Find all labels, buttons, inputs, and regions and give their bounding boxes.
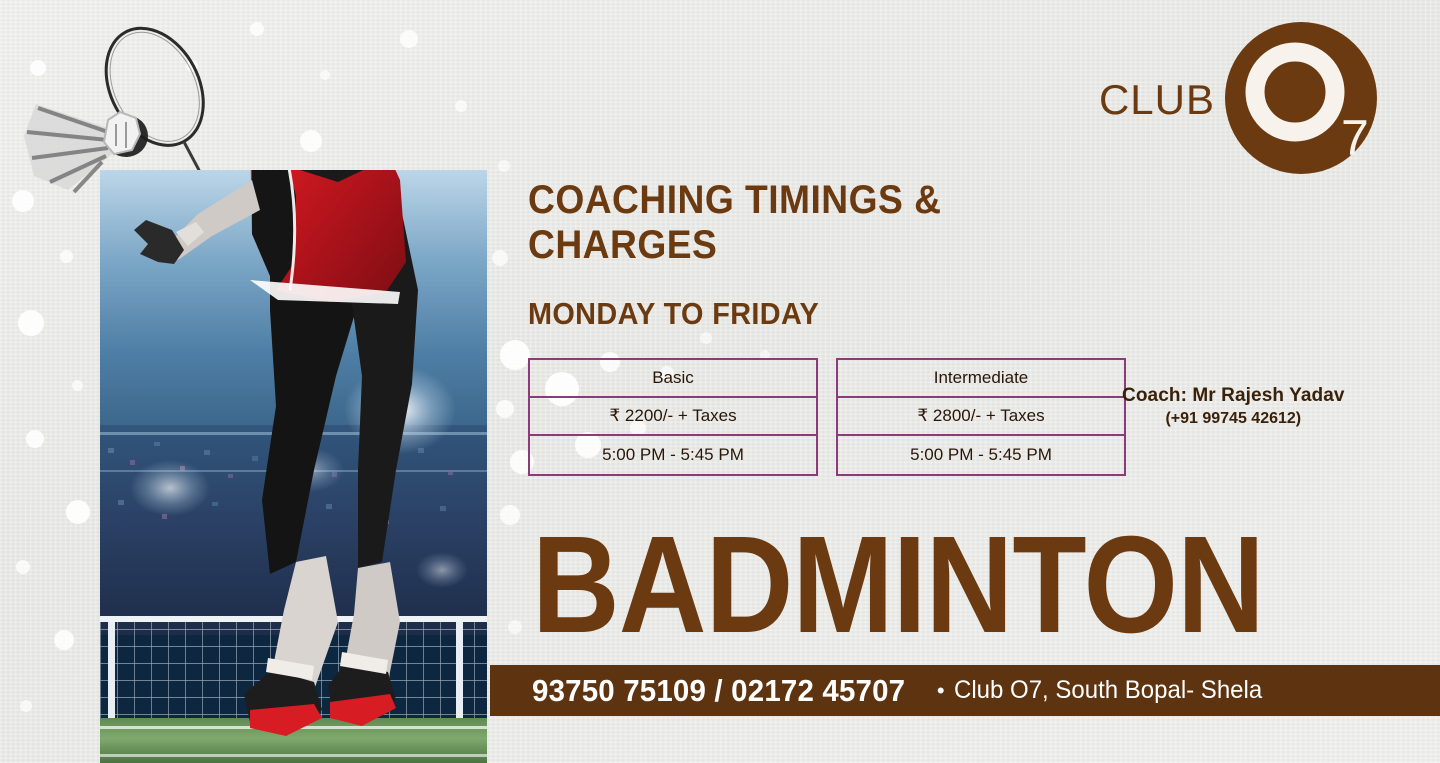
coach-phone: (+91 99745 42612) — [1122, 410, 1345, 428]
plan-price: ₹ 2200/- + Taxes — [530, 398, 816, 436]
plan-name: Basic — [530, 360, 816, 398]
content-column: COACHING TIMINGS & CHARGES MONDAY TO FRI… — [528, 0, 1440, 763]
plan-card-basic: Basic ₹ 2200/- + Taxes 5:00 PM - 5:45 PM — [528, 358, 818, 476]
plan-price: ₹ 2800/- + Taxes — [838, 398, 1124, 436]
contact-address: Club O7, South Bopal- Shela — [954, 676, 1262, 705]
promo-banner: CLUB 7 COACHING TIMINGS & CHARGES MONDAY… — [0, 0, 1440, 763]
plan-name: Intermediate — [838, 360, 1124, 398]
coach-info: Coach: Mr Rajesh Yadav (+91 99745 42612) — [1122, 385, 1345, 428]
badminton-player-photo — [100, 170, 487, 763]
plan-card-intermediate: Intermediate ₹ 2800/- + Taxes 5:00 PM - … — [836, 358, 1126, 476]
plan-time: 5:00 PM - 5:45 PM — [530, 436, 816, 474]
contact-bar: 93750 75109 / 02172 45707 • Club O7, Sou… — [490, 665, 1440, 716]
sport-title: BADMINTON — [532, 516, 1264, 654]
page-title: COACHING TIMINGS & CHARGES — [528, 178, 1012, 268]
contact-phone-numbers[interactable]: 93750 75109 / 02172 45707 — [532, 673, 905, 709]
days-subtitle: MONDAY TO FRIDAY — [528, 296, 819, 332]
pricing-tables: Basic ₹ 2200/- + Taxes 5:00 PM - 5:45 PM… — [528, 358, 1126, 476]
coach-name: Coach: Mr Rajesh Yadav — [1122, 385, 1345, 407]
bullet-separator-icon: • — [937, 680, 945, 702]
plan-time: 5:00 PM - 5:45 PM — [838, 436, 1124, 474]
